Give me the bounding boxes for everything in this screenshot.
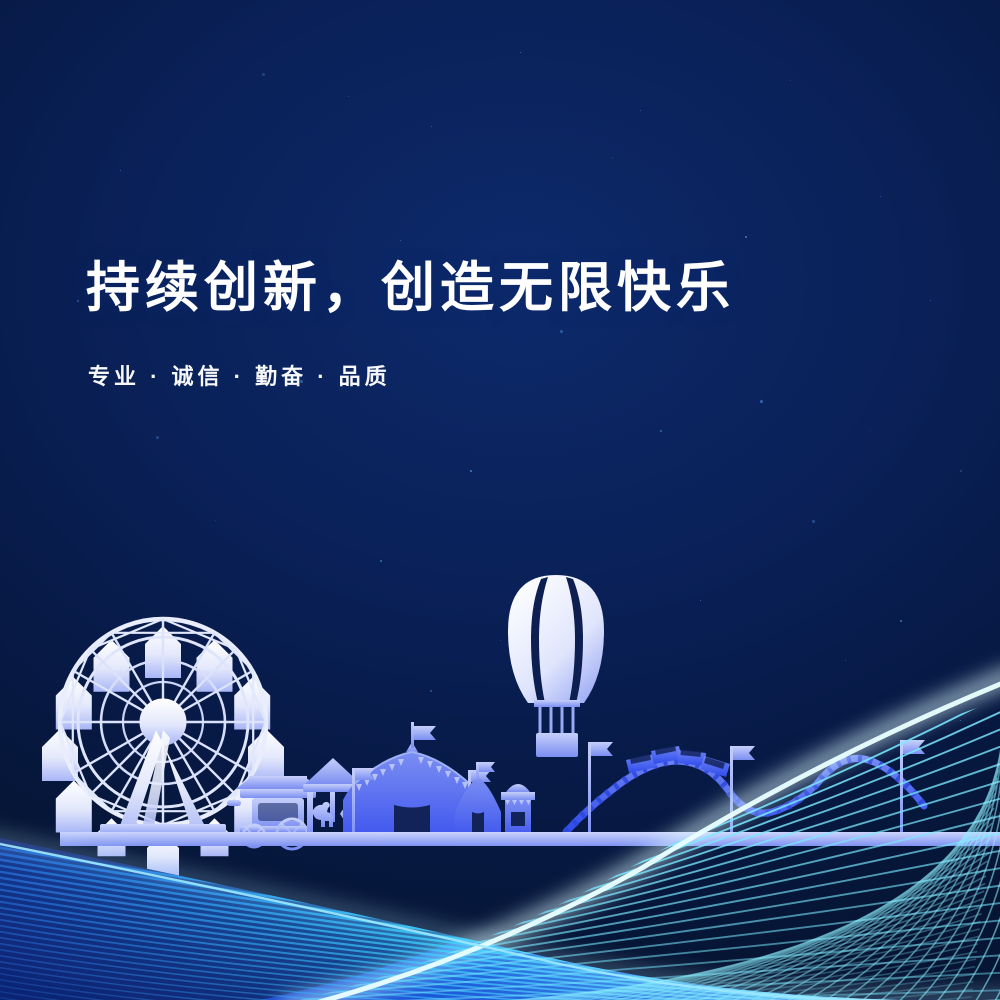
poster-canvas: 持续创新，创造无限快乐 专业 · 诚信 · 勤奋 · 品质 [0, 0, 1000, 1000]
mesh-radial-line [870, 725, 1000, 1000]
glowing-mesh-wave [0, 0, 1000, 1000]
